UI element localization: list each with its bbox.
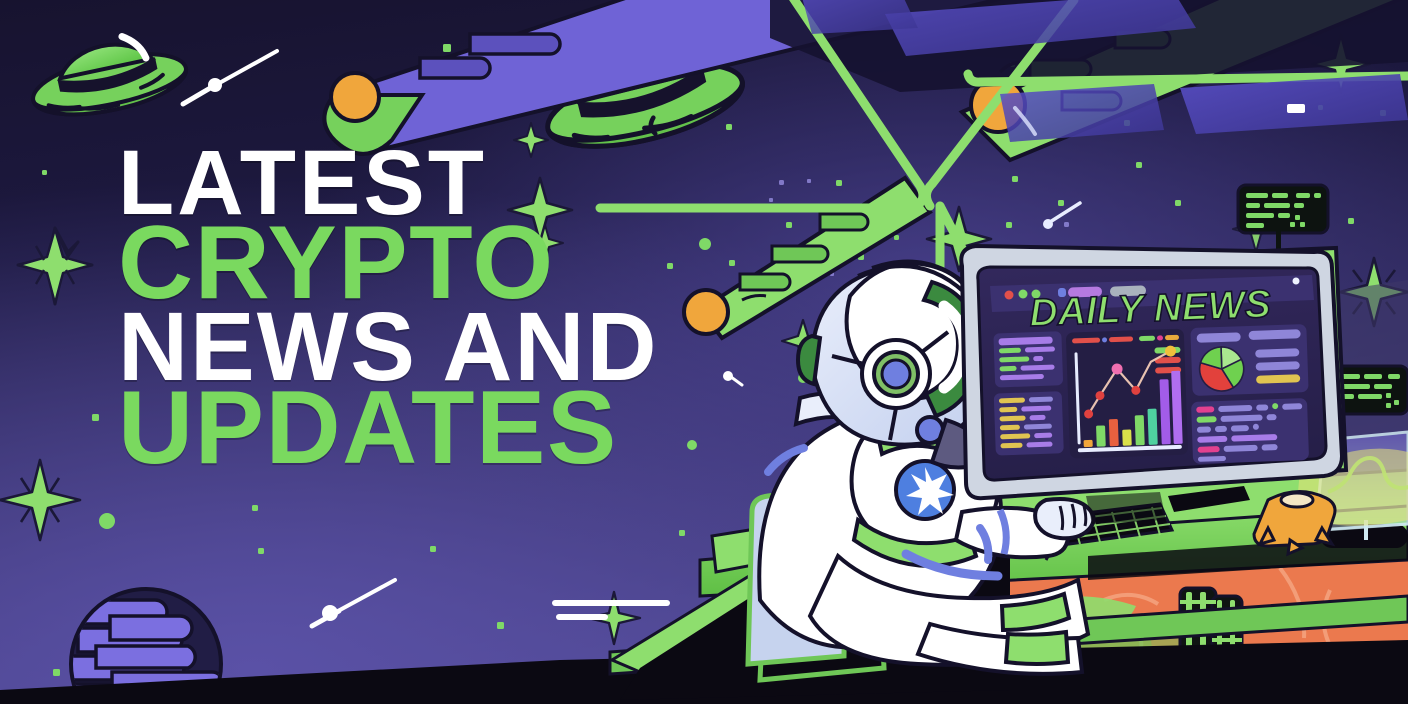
page-title: LATEST CRYPTO NEWS AND UPDATES xyxy=(118,146,659,472)
panel-market-chart xyxy=(1066,329,1188,459)
panel-feed xyxy=(1191,398,1309,464)
panel-allocation xyxy=(1190,324,1308,396)
headline-line-4: UPDATES xyxy=(118,386,659,471)
panel-article-list xyxy=(993,331,1063,387)
panel-stats-list xyxy=(994,391,1064,455)
crypto-news-banner: DAILY NEWS xyxy=(0,0,1408,704)
